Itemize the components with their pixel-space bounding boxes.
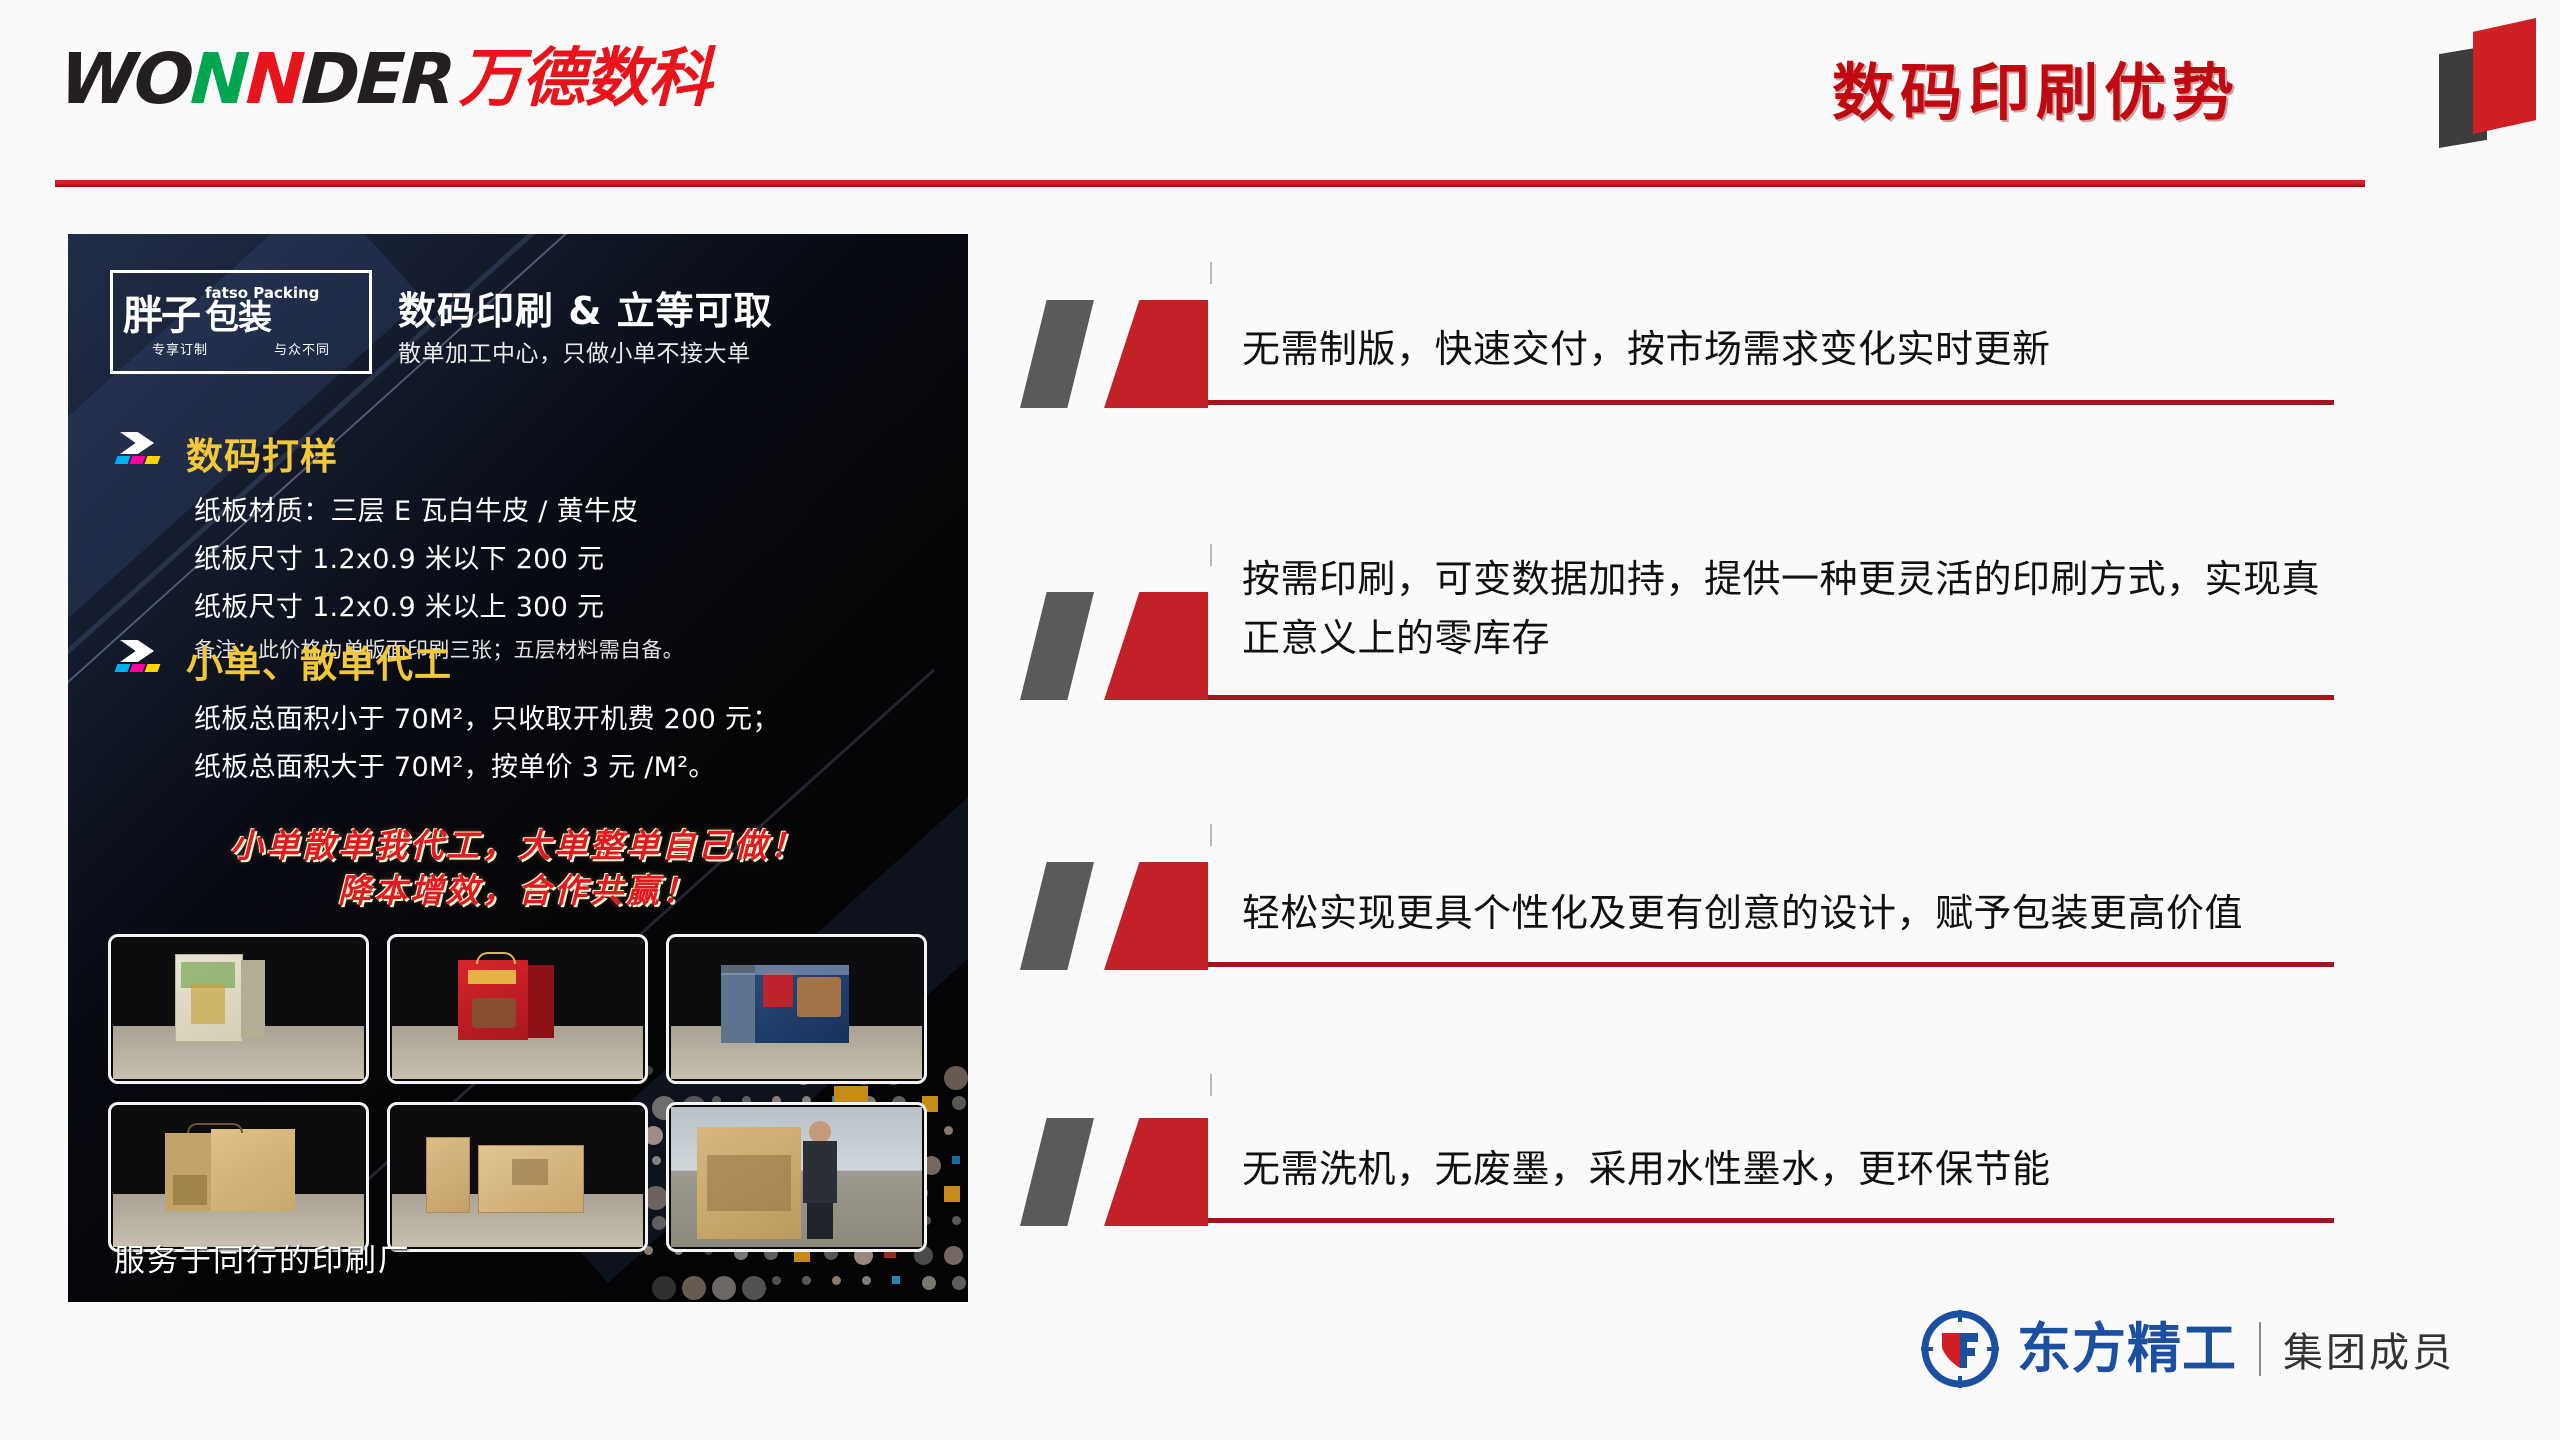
halftone-dot	[652, 1276, 676, 1300]
bullet-tick-mark	[1210, 262, 1212, 284]
poster-subline: 散单加工中心，只做小单不接大单	[398, 334, 751, 368]
fatso-packing-logo: 胖子 fatso Packing 包装 专享订制 与众不同	[110, 270, 372, 374]
poster-section-line: 纸板尺寸 1.2x0.9 米以下 200 元	[194, 537, 684, 576]
footer-member-label: 集团成员	[2283, 1320, 2455, 1378]
fatso-logo-bao: 包装	[205, 301, 271, 335]
poster-section-title: 数码打样	[186, 426, 338, 480]
poster-section-line: 纸板材质：三层 E 瓦白牛皮 / 黄牛皮	[194, 489, 684, 528]
wonder-latin-text: WONNDER	[58, 44, 454, 114]
bullet-tick-mark	[1210, 544, 1212, 566]
halftone-dot	[742, 1276, 766, 1300]
footer-company-name: 东方精工	[2017, 1322, 2237, 1376]
product-photo	[387, 934, 648, 1084]
bullet-marker-red	[1104, 1118, 1208, 1226]
halftone-dot	[772, 1276, 781, 1285]
bullet-marker-icon	[1012, 592, 1222, 700]
halftone-dot	[712, 1276, 736, 1300]
bullet-underline	[1208, 1218, 2334, 1223]
product-photo-grid	[108, 934, 928, 1252]
corner-decoration-icon	[2421, 10, 2536, 150]
halftone-square	[892, 1276, 900, 1284]
halftone-dot	[952, 1216, 961, 1225]
poster-footer-text: 服务于同行的印刷厂	[114, 1235, 411, 1280]
bullet-underline	[1208, 400, 2334, 405]
poster-section-line: 纸板总面积小于 70M²，只收取开机费 200 元；	[194, 697, 780, 736]
bullet-text: 无需洗机，无废墨，采用水性墨水，更环保节能	[1242, 1140, 2332, 1199]
halftone-dot	[944, 1126, 953, 1135]
product-photo	[108, 1102, 369, 1252]
footer-divider	[2259, 1322, 2261, 1376]
poster-slogan-line1: 小单散单我代工，大单整单自己做！	[68, 824, 968, 869]
fatso-logo-cn: 胖子	[123, 297, 199, 335]
halftone-dot	[862, 1276, 871, 1285]
halftone-dot	[944, 1066, 968, 1090]
product-photo	[108, 934, 369, 1084]
bullet-underline	[1208, 962, 2334, 967]
halftone-dot	[944, 1246, 963, 1265]
poster-section-small-order: 小单、散单代工 纸板总面积小于 70M²，只收取开机费 200 元； 纸板总面积…	[114, 634, 780, 784]
header-divider	[55, 180, 2365, 187]
halftone-dot	[952, 1096, 966, 1110]
halftone-dot	[682, 1276, 706, 1300]
bullet-tick-mark	[1210, 1074, 1212, 1096]
wonder-brand-logo: WONNDER 万德数科	[60, 40, 711, 115]
product-photo	[387, 1102, 648, 1252]
poster-slogan-line2: 降本增效，合作共赢！	[68, 869, 968, 914]
corner-red-shape	[2473, 18, 2536, 134]
bullet-text: 轻松实现更具个性化及更有创意的设计，赋予包装更高价值	[1242, 884, 2332, 943]
halftone-dot	[922, 1276, 936, 1290]
halftone-dot	[832, 1276, 841, 1285]
poster-section-line: 纸板总面积大于 70M²，按单价 3 元 /M²。	[194, 745, 780, 784]
bullet-tick-mark	[1210, 824, 1212, 846]
bullet-text: 无需制版，快速交付，按市场需求变化实时更新	[1242, 320, 2332, 379]
bullet-marker-icon	[1012, 300, 1222, 408]
bullet-marker-gray	[1020, 1118, 1094, 1226]
footer-logo: 东方精工 集团成员	[1917, 1306, 2455, 1392]
bullet-marker-gray	[1020, 300, 1094, 408]
bullet-marker-red	[1104, 300, 1208, 408]
product-photo	[666, 1102, 927, 1252]
chevron-icon	[114, 638, 176, 684]
bullet-underline	[1208, 695, 2334, 700]
halftone-dot	[802, 1276, 811, 1285]
poster-section-line: 纸板尺寸 1.2x0.9 米以上 300 元	[194, 585, 684, 624]
wonder-chinese-text: 万德数科	[459, 47, 711, 111]
halftone-dot	[952, 1276, 966, 1290]
poster-slogan: 小单散单我代工，大单整单自己做！ 降本增效，合作共赢！	[68, 824, 968, 913]
bullet-marker-gray	[1020, 592, 1094, 700]
dongfang-emblem-icon	[1917, 1306, 2003, 1392]
halftone-square	[944, 1186, 960, 1202]
bullet-text: 按需印刷，可变数据加持，提供一种更灵活的印刷方式，实现真正意义上的零库存	[1242, 550, 2332, 668]
bullet-marker-red	[1104, 592, 1208, 700]
poster-section-title: 小单、散单代工	[186, 634, 452, 688]
fatso-tagline-left: 专享订制	[152, 339, 208, 358]
bullet-marker-red	[1104, 862, 1208, 970]
poster-headline: 数码印刷 & 立等可取	[398, 280, 773, 335]
slide-header: WONNDER 万德数科 数码印刷优势	[0, 0, 2560, 200]
bullet-marker-icon	[1012, 1118, 1222, 1226]
poster-section-digital-proofing: 数码打样 纸板材质：三层 E 瓦白牛皮 / 黄牛皮 纸板尺寸 1.2x0.9 米…	[114, 426, 684, 664]
wonder-wordmark: WONNDER 万德数科	[60, 43, 711, 115]
halftone-square	[952, 1156, 960, 1164]
page-title: 数码印刷优势	[1832, 42, 2240, 132]
poster-image: 胖子 fatso Packing 包装 专享订制 与众不同 数码印刷 & 立等可…	[68, 234, 968, 1302]
chevron-icon	[114, 430, 176, 476]
bullet-marker-gray	[1020, 862, 1094, 970]
product-photo	[666, 934, 927, 1084]
bullet-marker-icon	[1012, 862, 1222, 970]
fatso-tagline-right: 与众不同	[274, 339, 330, 358]
